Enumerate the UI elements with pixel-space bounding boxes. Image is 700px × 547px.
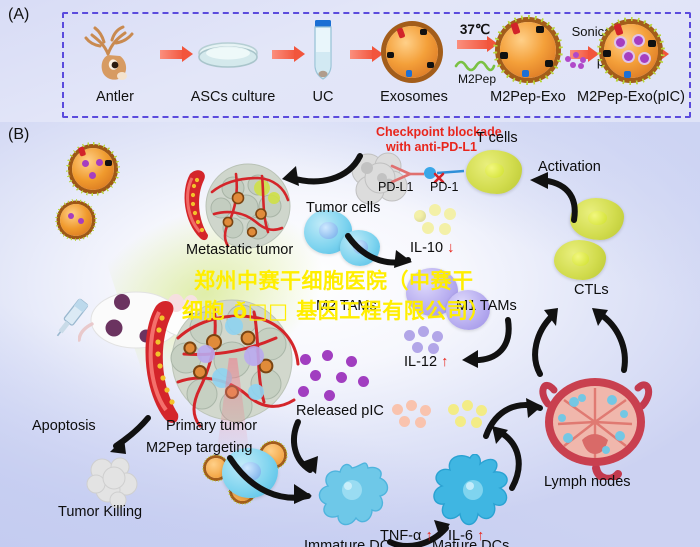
tnfa-cytokine-dots bbox=[392, 400, 440, 430]
arrow-antler-to-culture bbox=[160, 50, 184, 59]
arrow-metastasis-to-tumor-cells bbox=[278, 150, 364, 194]
m2pep-exo-pic-particle-vis bbox=[604, 24, 658, 78]
panel-a-label-exosomes: Exosomes bbox=[376, 89, 452, 105]
arrow-maturedc-to-cytokines bbox=[478, 424, 526, 494]
pic-dots-icon bbox=[565, 52, 591, 70]
label-immature-dcs: Immature DCs bbox=[304, 538, 397, 547]
arrow-culture-to-uc bbox=[272, 50, 296, 59]
panel-a-label: (A) bbox=[8, 6, 29, 24]
label-metastatic-tumor: Metastatic tumor bbox=[186, 242, 293, 258]
apoptotic-cell bbox=[82, 452, 142, 510]
panel-a-label-antler: Antler bbox=[72, 89, 158, 105]
panel-a-label-final: M2Pep-Exo(pIC) bbox=[556, 89, 700, 105]
label-released-pic: Released pIC bbox=[296, 403, 384, 419]
arrow-to-ctls-left bbox=[522, 306, 564, 378]
label-il10: IL-10 ↓ bbox=[410, 240, 454, 256]
exosome-injected-large bbox=[72, 148, 114, 190]
arrow-to-ctls-right bbox=[588, 304, 634, 374]
lymph-node-illustration bbox=[534, 370, 656, 480]
asc-culture-dish bbox=[196, 40, 260, 70]
arrow-uc-to-exosomes bbox=[350, 50, 374, 59]
panel-a-label-ascs: ASCs culture bbox=[185, 89, 281, 105]
label-lymph-nodes: Lymph nodes bbox=[544, 474, 631, 490]
il12-text: IL-12 bbox=[404, 354, 437, 370]
m2pep-exo-particle bbox=[500, 22, 556, 78]
label-tumor-cells: Tumor cells bbox=[306, 200, 380, 216]
il10-down-arrow: ↓ bbox=[447, 240, 454, 256]
label-il12: IL-12 ↑ bbox=[404, 354, 448, 370]
released-pic-dots bbox=[296, 350, 372, 402]
figure-root: (A) Antler ASCs culture bbox=[0, 0, 700, 547]
uc-tube bbox=[310, 18, 336, 82]
panel-b: Metastatic tumor Tumor cells Checkpoint … bbox=[0, 122, 700, 547]
label-activation: Activation bbox=[538, 159, 601, 175]
panel-a-m2pep-label: M2Pep bbox=[449, 72, 505, 86]
panel-a-label-uc: UC bbox=[295, 89, 351, 105]
arrow-activation bbox=[522, 170, 582, 224]
il10-text: IL-10 bbox=[410, 240, 443, 256]
m2pep-peptide-icon bbox=[454, 56, 496, 72]
exosome-particle bbox=[386, 26, 438, 78]
panel-b-label: (B) bbox=[8, 126, 29, 144]
label-mature-dcs: Mature DCs bbox=[432, 538, 509, 547]
label-t-cells: T cells bbox=[476, 130, 518, 146]
exosome-injected-small bbox=[60, 204, 92, 236]
arrow-exosomes-to-m2pep bbox=[457, 40, 489, 49]
il12-up-arrow: ↑ bbox=[441, 354, 448, 370]
label-primary-tumor: Primary tumor bbox=[166, 418, 257, 434]
label-ctls: CTLs bbox=[574, 282, 609, 298]
label-m2pep-targeting: M2Pep targeting bbox=[146, 440, 252, 456]
il10-cytokine-dots bbox=[414, 204, 464, 238]
panel-a-temperature: 37℃ bbox=[453, 22, 497, 38]
label-pdl1: PD-L1 bbox=[378, 180, 413, 194]
label-pd1: PD-1 bbox=[430, 180, 458, 194]
ctl-cell-2 bbox=[554, 240, 606, 280]
arrow-tumor-to-dc bbox=[226, 452, 316, 508]
label-tumor-killing: Tumor Killing bbox=[58, 504, 142, 520]
watermark-line-2: 细胞 ð□□ 基因工程有限公司） bbox=[182, 296, 490, 326]
antler-illustration bbox=[78, 22, 150, 84]
watermark-line-1: 郑州中赛干细胞医院（中赛干 bbox=[194, 266, 474, 296]
label-checkpoint-line2: with anti-PD-L1 bbox=[386, 140, 477, 154]
label-apoptosis: Apoptosis bbox=[32, 418, 96, 434]
il12-cytokine-dots bbox=[404, 326, 452, 356]
panel-a: (A) Antler ASCs culture bbox=[0, 0, 700, 122]
